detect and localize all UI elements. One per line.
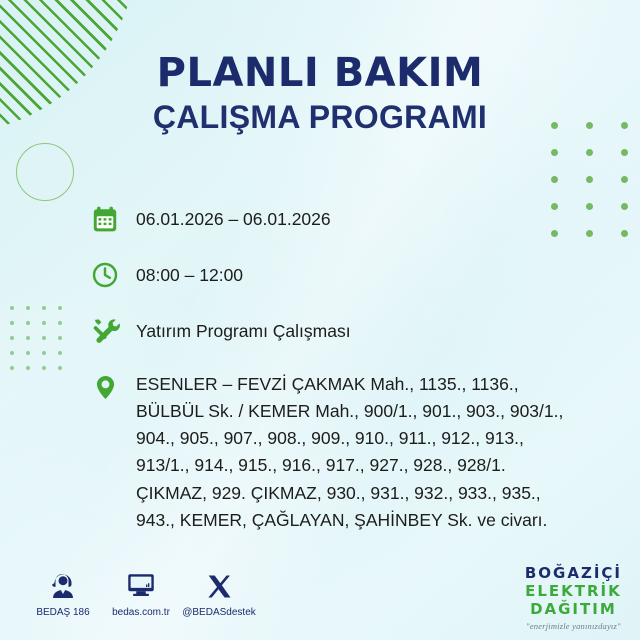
address-line: 904., 905., 907., 908., 909., 910., 911.… [136, 425, 563, 452]
location-pin-icon [86, 368, 124, 406]
announcement-card: PLANLI BAKIM ÇALIŞMA PROGRAMI [0, 0, 640, 640]
address-value: ESENLER – FEVZİ ÇAKMAK Mah., 1135., 1136… [136, 368, 563, 534]
contact-x-account[interactable]: @BEDASdestek [180, 566, 258, 618]
brand-line-1: BOĞAZİÇİ [525, 566, 622, 581]
page-subtitle: ÇALIŞMA PROGRAMI [0, 98, 640, 136]
info-row-time: 08:00 – 12:00 [86, 256, 606, 294]
address-line: ÇIKMAZ, 929. ÇIKMAZ, 930., 931., 932., 9… [136, 480, 563, 507]
header: PLANLI BAKIM ÇALIŞMA PROGRAMI [0, 52, 640, 136]
brand-line-2: ELEKTRİK [525, 584, 622, 599]
address-line: BÜLBÜL Sk. / KEMER Mah., 900/1., 901., 9… [136, 398, 563, 425]
calendar-icon [86, 200, 124, 238]
brand-line-3: DAĞITIM [525, 602, 622, 617]
dot-grid-left-decoration [10, 306, 74, 381]
footer: BEDAŞ 186 bedas.com.tr [0, 552, 640, 640]
address-line: ESENLER – FEVZİ ÇAKMAK Mah., 1135., 1136… [136, 371, 563, 398]
x-logo-icon [206, 566, 233, 600]
brand-tagline: "enerjimizle yanınızdayız" [525, 622, 622, 631]
contact-website[interactable]: bedas.com.tr [102, 566, 180, 618]
monitor-icon [126, 566, 156, 600]
info-row-address: ESENLER – FEVZİ ÇAKMAK Mah., 1135., 1136… [86, 368, 606, 534]
support-agent-icon [48, 566, 78, 600]
address-line: 913/1., 914., 915., 916., 917., 927., 92… [136, 452, 563, 479]
info-row-date: 06.01.2026 – 06.01.2026 [86, 200, 606, 238]
address-line: 943., KEMER, ÇAĞLAYAN, ŞAHİNBEY Sk. ve c… [136, 507, 563, 534]
work-type-value: Yatırım Programı Çalışması [136, 312, 351, 345]
tools-icon [86, 312, 124, 350]
time-range-value: 08:00 – 12:00 [136, 256, 243, 289]
contact-x-label: @BEDASdestek [182, 607, 256, 618]
contact-website-label: bedas.com.tr [112, 607, 170, 618]
clock-icon [86, 256, 124, 294]
circle-outline-decoration [16, 143, 74, 201]
brand-logo: BOĞAZİÇİ ELEKTRİK DAĞITIM "enerjimizle y… [525, 566, 622, 631]
contact-list: BEDAŞ 186 bedas.com.tr [24, 566, 258, 618]
info-row-work-type: Yatırım Programı Çalışması [86, 312, 606, 350]
date-range-value: 06.01.2026 – 06.01.2026 [136, 200, 331, 233]
contact-phone[interactable]: BEDAŞ 186 [24, 566, 102, 618]
contact-phone-label: BEDAŞ 186 [36, 607, 89, 618]
info-list: 06.01.2026 – 06.01.2026 08:00 – 12:00 [86, 200, 606, 552]
page-title: PLANLI BAKIM [0, 52, 640, 94]
